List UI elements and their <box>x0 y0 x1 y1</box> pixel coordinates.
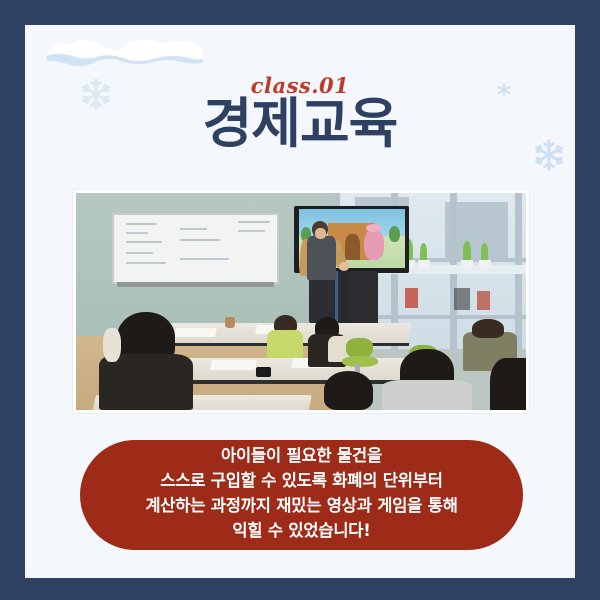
page-title: 경제교육 <box>25 93 575 155</box>
snow-drift-icon <box>45 33 205 67</box>
caption-text: 아이들이 필요한 물건을 스스로 구입할 수 있도록 화폐의 단위부터 계산하는… <box>145 443 457 544</box>
card-inner-panel: class.01 경제교육 <box>25 25 575 578</box>
caption-pill: 아이들이 필요한 물건을 스스로 구입할 수 있도록 화폐의 단위부터 계산하는… <box>80 440 523 550</box>
classroom-photo <box>76 193 526 410</box>
photo-frame <box>73 190 529 413</box>
promo-card: class.01 경제교육 <box>0 0 600 600</box>
